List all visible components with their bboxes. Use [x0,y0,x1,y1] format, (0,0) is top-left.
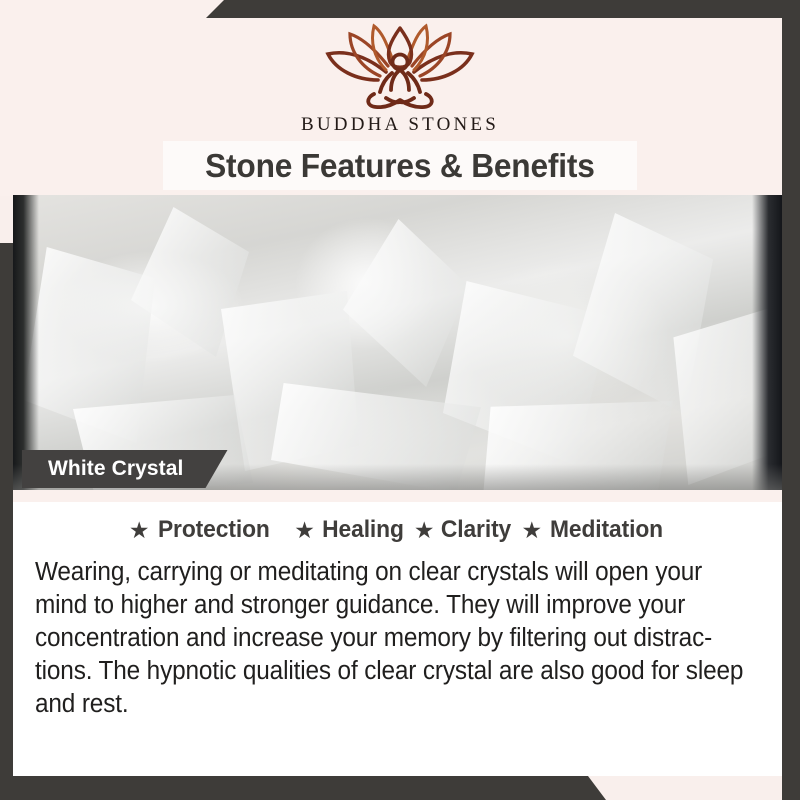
stone-name-tag: White Crystal [22,450,228,488]
benefits-row: ★ Protection ★ Healing ★ Clarity ★ Medit… [13,516,782,544]
star-icon: ★ [521,519,542,542]
stone-benefits-infographic: BUDDHA STONES Stone Features & Benefits … [0,0,800,800]
benefit-item-clarity: ★ Clarity [414,516,514,544]
stone-name-label: White Crystal [48,457,184,481]
benefit-item-meditation: ★ Meditation [521,516,666,544]
content-panel: ★ Protection ★ Healing ★ Clarity ★ Medit… [13,502,782,776]
stone-photo [13,195,782,490]
lotus-meditation-figure-icon [312,22,488,110]
benefit-item-protection: ★ Protection [129,516,272,544]
benefit-item-healing: ★ Healing [294,516,406,544]
decor-bottom-left-shape [0,776,800,800]
stone-description: Wearing, carrying or meditating on clear… [35,556,761,720]
photo-edge-shadow-left [13,195,39,490]
crystal-shard [343,219,469,387]
stone-photo-image [13,195,782,490]
star-icon: ★ [414,519,435,542]
benefit-label: Protection [157,516,269,544]
decor-right-edge [782,0,800,800]
brand-logo: BUDDHA STONES [0,22,800,136]
photo-separator [13,490,782,502]
star-icon: ★ [294,519,315,542]
photo-edge-shadow-right [752,195,782,490]
page-title: Stone Features & Benefits [205,147,595,185]
benefit-label: Meditation [550,516,663,544]
benefit-label: Healing [322,516,404,544]
title-banner: Stone Features & Benefits [163,141,637,190]
decor-left-edge [0,243,13,800]
benefit-label: Clarity [441,516,511,544]
brand-wordmark: BUDDHA STONES [301,114,499,136]
star-icon: ★ [129,519,150,542]
